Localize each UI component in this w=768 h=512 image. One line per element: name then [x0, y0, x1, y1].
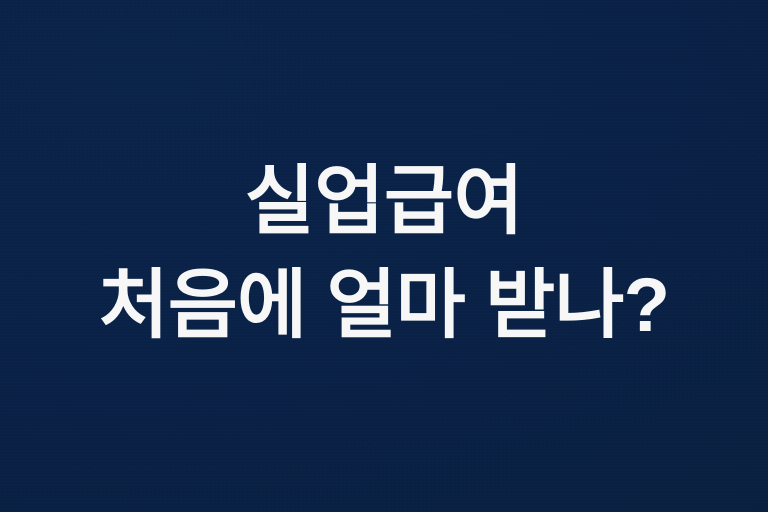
headline-line-secondary: 처음에 얼마 받나? — [0, 268, 768, 344]
thumbnail-canvas: 실업급여 처음에 얼마 받나? — [0, 0, 768, 512]
headline-line-primary: 실업급여 — [0, 164, 768, 240]
headline-block: 실업급여 처음에 얼마 받나? — [0, 164, 768, 348]
